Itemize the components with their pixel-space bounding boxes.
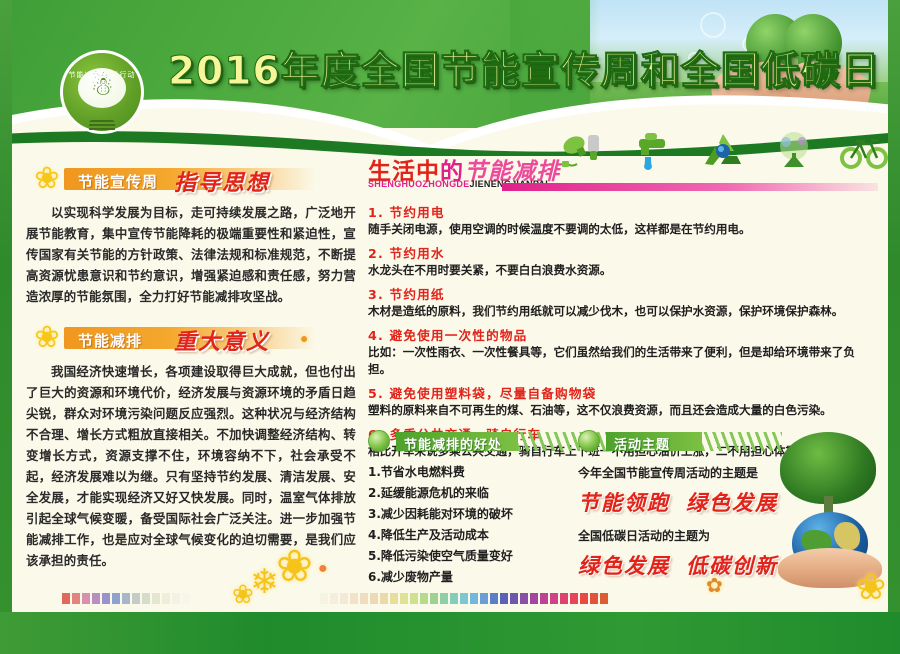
magenta-rule xyxy=(502,183,878,191)
list-item: 5.降低污染使空气质量变好 xyxy=(368,546,578,567)
page-title: 2016年度全国节能宣传周和全国低碳日 xyxy=(168,40,881,96)
list-item: 4. 避免使用一次性的物品 比如：一次性雨衣、一次性餐具等，它们虽然给我们的生活… xyxy=(368,325,878,378)
bottom-panels: 节能减排的好处 1.节省水电燃料费 2.延缓能源危机的来临 3.减少因耗能对环境… xyxy=(368,428,878,454)
color-swatch-strip xyxy=(0,586,900,612)
frame-left-border xyxy=(0,0,12,654)
tip-detail: 水龙头在不用时要关紧，不要白白浪费水资源。 xyxy=(368,262,878,279)
left-column: ❀ 节能宣传周 指导思想 以实现科学发展为目标，走可持续发展之路，广泛地开展节能… xyxy=(26,162,356,571)
section-body-significance: 我国经济快速增长，各项建设取得巨大成就，但也付出了巨大的资源和环境代价，经济发展… xyxy=(26,361,356,571)
list-item: 1.节省水电燃料费 xyxy=(368,462,578,483)
dot-decor-icon: ● xyxy=(300,330,308,346)
sunflower-icon: ❀ xyxy=(276,541,313,592)
light-bulb-icon xyxy=(558,130,606,174)
section-title: 重大意义 xyxy=(174,324,270,356)
tip-heading: 1. 节约用电 xyxy=(368,202,878,221)
frame-right-border xyxy=(888,0,900,654)
bicycle-icon xyxy=(840,130,888,174)
tip-heading: 3. 节约用纸 xyxy=(368,284,878,303)
section-label: 节能减排 xyxy=(78,330,142,351)
water-faucet-icon xyxy=(629,130,677,174)
sunflower-icon: ❀ xyxy=(26,162,68,196)
tip-heading: 4. 避免使用一次性的物品 xyxy=(368,325,878,344)
poster-canvas: 节能减排 全民行动 ☃ 2016年度全国节能宣传周和全国低碳日 ❀ 节能宣传周 … xyxy=(0,0,900,654)
green-orb-icon xyxy=(578,430,600,452)
pinyin-highlight: SHENGHUOZHONGDE xyxy=(368,179,470,189)
energy-saving-emblem-logo: 节能减排 全民行动 ☃ xyxy=(56,46,148,138)
section-header-guiding-thought: ❀ 节能宣传周 指导思想 xyxy=(26,162,356,196)
list-item: 1. 节约用电 随手关闭电源，使用空调的时候温度不要调的太低，这样都是在节约用电… xyxy=(368,202,878,238)
tip-heading: 2. 节约用水 xyxy=(368,243,878,262)
life-saving-title-block: 生活中的节能减排 SHENGHUOZHONGDEJIENENGJIANPAI xyxy=(368,152,878,196)
dot-decor-icon: ● xyxy=(318,560,328,578)
hand-holding-earth-with-tree-icon xyxy=(764,432,884,587)
person-in-leaf-icon: ☃ xyxy=(90,73,113,99)
benefits-list: 1.节省水电燃料费 2.延缓能源危机的来临 3.减少因耗能对环境的破坏 4.降低… xyxy=(368,462,578,588)
panel-title: 活动主题 xyxy=(614,434,670,453)
tip-detail: 塑料的原料来自不可再生的煤、石油等，这不仅浪费资源，而且还会造成大量的白色污染。 xyxy=(368,402,878,419)
green-orb-icon xyxy=(368,430,390,452)
list-item: 4.降低生产及活动成本 xyxy=(368,525,578,546)
eco-tips-list: 1. 节约用电 随手关闭电源，使用空调的时候温度不要调的太低，这样都是在节约用电… xyxy=(368,202,878,460)
list-item: 3.减少因耗能对环境的破坏 xyxy=(368,504,578,525)
tip-detail: 比如：一次性雨衣、一次性餐具等，它们虽然给我们的生活带来了便利，但是却给环境带来… xyxy=(368,344,878,378)
section-body-guiding-thought: 以实现科学发展为目标，走可持续发展之路，广泛地开展节能教育，集中宣传节能降耗的极… xyxy=(26,202,356,307)
panel-title: 节能减排的好处 xyxy=(404,434,502,453)
bubble-decor-icon xyxy=(700,12,726,38)
tip-detail: 木材是造纸的原料，我们节约用纸就可以减少伐木，也可以保护水资源，保护环境保护森林… xyxy=(368,303,878,320)
tip-detail: 随手关闭电源，使用空调的时候温度不要调的太低，这样都是在节约用电。 xyxy=(368,221,878,238)
list-item: 2.延缓能源危机的来临 xyxy=(368,483,578,504)
slogan-part-a: 节能领跑 xyxy=(578,491,670,515)
list-item: 3. 节约用纸 木材是造纸的原料，我们节约用纸就可以减少伐木，也可以保护水资源，… xyxy=(368,284,878,320)
list-item: 2. 节约用水 水龙头在不用时要关紧，不要白白浪费水资源。 xyxy=(368,243,878,279)
frame-bottom-border xyxy=(0,612,900,654)
right-column: 生活中的节能减排 SHENGHUOZHONGDEJIENENGJIANPAI xyxy=(368,152,878,465)
sunflower-icon: ❀ xyxy=(26,321,68,355)
recycle-globe-icon xyxy=(699,130,747,174)
list-item: 6.减少废物产量 xyxy=(368,567,578,588)
section-title: 指导思想 xyxy=(174,165,270,197)
list-item: 5. 避免使用塑料袋，尽量自备购物袋 塑料的原料来自不可再生的煤、石油等，这不仅… xyxy=(368,383,878,419)
section-label: 节能宣传周 xyxy=(78,171,158,192)
tip-heading: 5. 避免使用塑料袋，尽量自备购物袋 xyxy=(368,383,878,402)
tree-icon xyxy=(770,130,818,174)
slogan-part-a: 绿色发展 xyxy=(578,554,670,578)
eco-icon-row xyxy=(558,128,888,176)
